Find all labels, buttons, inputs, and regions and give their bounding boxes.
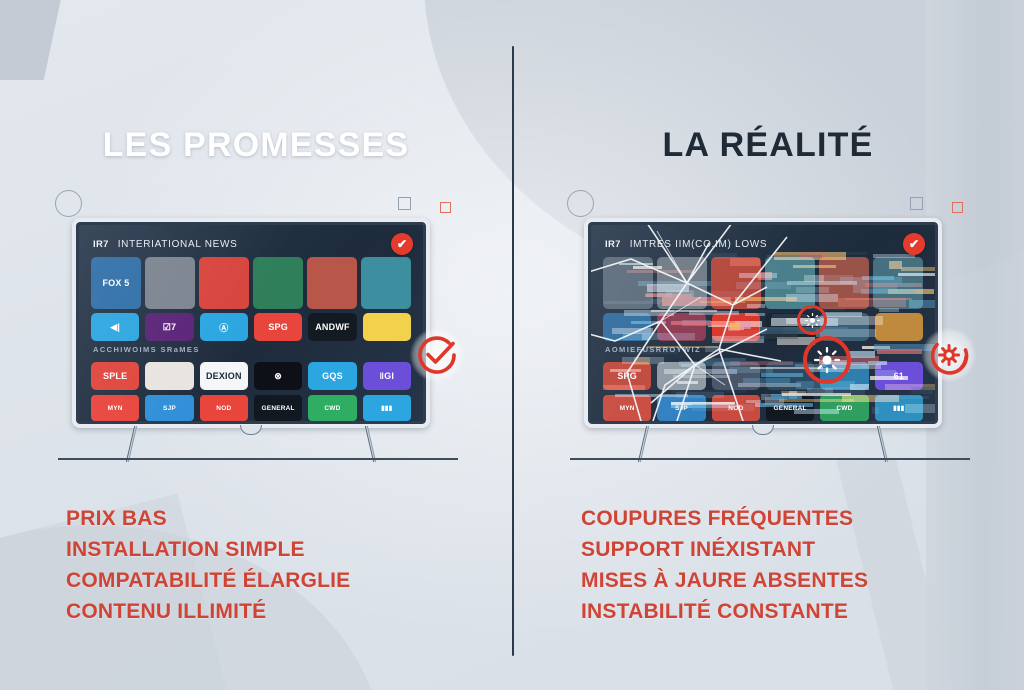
right-hero-tile-5[interactable] <box>819 257 869 309</box>
tile-label: ANDWF <box>315 322 350 332</box>
tile-label: CWD <box>836 405 852 412</box>
tv-bezel: IR7 INTERIATIONAL NEWS FOX 5 ◀|☑7ⒶSPGAND… <box>76 222 426 424</box>
right-app-r3-3[interactable]: NOD <box>712 395 760 421</box>
app-row-1[interactable]: ◀|☑7ⒶSPGANDWF <box>91 313 411 341</box>
glitch-bar <box>705 346 721 352</box>
left-app-r1-4[interactable]: SPG <box>254 313 302 341</box>
right-app-r2-2[interactable] <box>657 362 705 390</box>
tile-label: ▮▮▮ <box>893 404 904 412</box>
glitch-bar <box>848 351 875 358</box>
glitch-bar <box>877 349 923 354</box>
left-app-r3-5[interactable]: CWD <box>308 395 356 421</box>
slide-canvas: LES PROMESSES IR7 INTERIATIONAL NEWS FOX… <box>0 0 1024 690</box>
television-promises: IR7 INTERIATIONAL NEWS FOX 5 ◀|☑7ⒶSPGAND… <box>72 218 430 428</box>
tile-label: NOD <box>728 405 743 412</box>
tv-leg-right <box>877 426 888 462</box>
left-app-r2-2[interactable] <box>145 362 193 390</box>
tile-label: Ⓐ <box>219 321 228 334</box>
left-app-r2-5[interactable]: GQS <box>308 362 356 390</box>
left-hero-tile-4[interactable] <box>253 257 303 309</box>
tile-label: MYN <box>620 405 635 412</box>
left-hero-tile-1[interactable]: FOX 5 <box>91 257 141 309</box>
screen-headline: INTERIATIONAL NEWS <box>118 239 238 250</box>
tile-label: DEXION <box>206 371 242 381</box>
left-app-r1-6[interactable] <box>363 313 411 341</box>
tile-label: ▮▮▮ <box>381 404 392 412</box>
tile-label: ◀| <box>110 322 120 333</box>
left-app-r2-1[interactable]: SPLE <box>91 362 139 390</box>
tile-label: MYN <box>108 405 123 412</box>
decorative-circle-outline <box>55 190 82 217</box>
glitch-bar <box>862 346 890 349</box>
left-hero-tile-6[interactable] <box>361 257 411 309</box>
right-app-r3-2[interactable]: SJP <box>657 395 705 421</box>
tile-label: GQS <box>322 371 343 381</box>
left-app-r3-4[interactable]: GENERAL <box>254 395 302 421</box>
right-hero-tile-3[interactable] <box>711 257 761 309</box>
left-bullet-4: CONTENU ILLIMITÉ <box>66 597 350 628</box>
screen-header: IR7 IMTRES IIM(CO.IM) LOWS <box>605 235 921 253</box>
channel-logo: IR7 <box>605 239 621 250</box>
hero-carousel[interactable] <box>603 257 923 309</box>
tile-label: GENERAL <box>774 405 807 412</box>
left-hero-tile-5[interactable] <box>307 257 357 309</box>
glitch-bar <box>704 358 745 361</box>
left-app-r2-6[interactable]: ǁGI <box>363 362 411 390</box>
right-app-r2-1[interactable]: SPG <box>603 362 651 390</box>
decorative-square-gray <box>910 197 923 210</box>
right-app-r3-6[interactable]: ▮▮▮ <box>875 395 923 421</box>
right-hero-tile-4[interactable] <box>765 257 815 309</box>
tile-label: ☑7 <box>163 322 176 333</box>
check-circle-icon <box>410 328 464 382</box>
tile-label: SJP <box>675 405 688 412</box>
glitch-bar <box>672 390 745 393</box>
app-section-label: AOMIEFUSRROYWIZ <box>605 345 701 354</box>
television-reality: IR7 IMTRES IIM(CO.IM) LOWS AOMIEFUSRROYW… <box>584 218 942 428</box>
right-hero-tile-2[interactable] <box>657 257 707 309</box>
left-app-r3-3[interactable]: NOD <box>200 395 248 421</box>
right-app-r1-2[interactable] <box>657 313 705 341</box>
tv-leg-right <box>365 426 376 462</box>
tv-leg-left <box>126 426 137 462</box>
tile-label: NOD <box>216 405 231 412</box>
tile-label: ǁGI <box>380 371 395 381</box>
tile-label: SPG <box>617 371 637 381</box>
screen-headline: IMTRES IIM(CO.IM) LOWS <box>630 239 768 250</box>
ground-line <box>570 458 970 460</box>
hero-carousel[interactable]: FOX 5 <box>91 257 411 309</box>
left-app-r1-3[interactable]: Ⓐ <box>200 313 248 341</box>
right-app-r2-3[interactable] <box>712 362 760 390</box>
app-row-3[interactable]: MYNSJPNODGENERALCWD▮▮▮ <box>91 395 411 421</box>
panel-reality: LA RÉALITÉ IR7 IMTRES IIM(CO.IM) LOWS AO… <box>512 0 1024 690</box>
broken-brightness-icon <box>922 328 976 382</box>
right-hero-tile-6[interactable] <box>873 257 923 309</box>
right-bullet-1: COUPURES FRÉQUENTES <box>581 504 868 535</box>
app-row-3[interactable]: MYNSJPNODGENERALCWD▮▮▮ <box>603 395 923 421</box>
screen-header: IR7 INTERIATIONAL NEWS <box>93 235 409 253</box>
app-row-2[interactable]: SPLEDEXION⊗GQSǁGI <box>91 362 411 390</box>
app-row-2[interactable]: SPG61 <box>603 362 923 390</box>
right-app-r3-4[interactable]: GENERAL <box>766 395 814 421</box>
tile-label: SPG <box>268 322 288 332</box>
right-bullet-3: MISES À JAURE ABSENTES <box>581 566 868 597</box>
left-app-r2-4[interactable]: ⊗ <box>254 362 302 390</box>
panel-promises: LES PROMESSES IR7 INTERIATIONAL NEWS FOX… <box>0 0 512 690</box>
right-app-r1-6[interactable] <box>875 313 923 341</box>
right-app-r3-1[interactable]: MYN <box>603 395 651 421</box>
tile-label: 61 <box>894 371 904 381</box>
left-app-r3-2[interactable]: SJP <box>145 395 193 421</box>
decorative-square-gray <box>398 197 411 210</box>
left-hero-tile-3[interactable] <box>199 257 249 309</box>
app-row-1[interactable] <box>603 313 923 341</box>
brightness-icon-large <box>803 336 851 384</box>
left-bullet-3: COMPATABILITÉ ÉLARGLIE <box>66 566 350 597</box>
left-app-r1-1[interactable]: ◀| <box>91 313 139 341</box>
channel-logo: IR7 <box>93 239 109 250</box>
tv-bezel: IR7 IMTRES IIM(CO.IM) LOWS AOMIEFUSRROYW… <box>588 222 938 424</box>
reality-list: COUPURES FRÉQUENTESSUPPORT INÉXISTANTMIS… <box>581 504 868 627</box>
decorative-square-red <box>440 202 451 213</box>
tile-label: ⊗ <box>274 371 282 382</box>
page-title-promises: LES PROMESSES <box>0 126 512 165</box>
tile-label: SPLE <box>103 371 127 381</box>
tv-screen: IR7 IMTRES IIM(CO.IM) LOWS AOMIEFUSRROYW… <box>591 225 935 421</box>
page-title-reality: LA RÉALITÉ <box>512 126 1024 165</box>
right-app-r1-1[interactable] <box>603 313 651 341</box>
status-badge-check: ✔ <box>903 233 925 255</box>
right-bullet-2: SUPPORT INÉXISTANT <box>581 535 868 566</box>
left-bullet-2: INSTALLATION SIMPLE <box>66 535 350 566</box>
tile-label: FOX 5 <box>102 278 129 288</box>
left-app-r3-6[interactable]: ▮▮▮ <box>363 395 411 421</box>
app-section-label: ACCHIWOIMS SRaMES <box>93 345 200 354</box>
tile-label: SJP <box>163 405 176 412</box>
decorative-square-red <box>952 202 963 213</box>
tv-base-notch <box>240 425 262 435</box>
tile-label: GENERAL <box>262 405 295 412</box>
tv-base-notch <box>752 425 774 435</box>
left-app-r3-1[interactable]: MYN <box>91 395 139 421</box>
promises-list: PRIX BASINSTALLATION SIMPLECOMPATABILITÉ… <box>66 504 350 627</box>
left-app-r1-5[interactable]: ANDWF <box>308 313 356 341</box>
left-bullet-1: PRIX BAS <box>66 504 350 535</box>
right-app-r1-3[interactable] <box>712 313 760 341</box>
tile-label: CWD <box>324 405 340 412</box>
ground-line <box>58 458 458 460</box>
left-app-r2-3[interactable]: DEXION <box>200 362 248 390</box>
brightness-icon-small <box>797 305 827 335</box>
right-bullet-4: INSTABILITÉ CONSTANTE <box>581 597 868 628</box>
right-hero-tile-1[interactable] <box>603 257 653 309</box>
tv-screen: IR7 INTERIATIONAL NEWS FOX 5 ◀|☑7ⒶSPGAND… <box>79 225 423 421</box>
decorative-circle-outline <box>567 190 594 217</box>
tv-leg-left <box>638 426 649 462</box>
right-app-r2-6[interactable]: 61 <box>875 362 923 390</box>
status-badge-check: ✔ <box>391 233 413 255</box>
left-app-r1-2[interactable]: ☑7 <box>145 313 193 341</box>
left-hero-tile-2[interactable] <box>145 257 195 309</box>
right-app-r3-5[interactable]: CWD <box>820 395 868 421</box>
